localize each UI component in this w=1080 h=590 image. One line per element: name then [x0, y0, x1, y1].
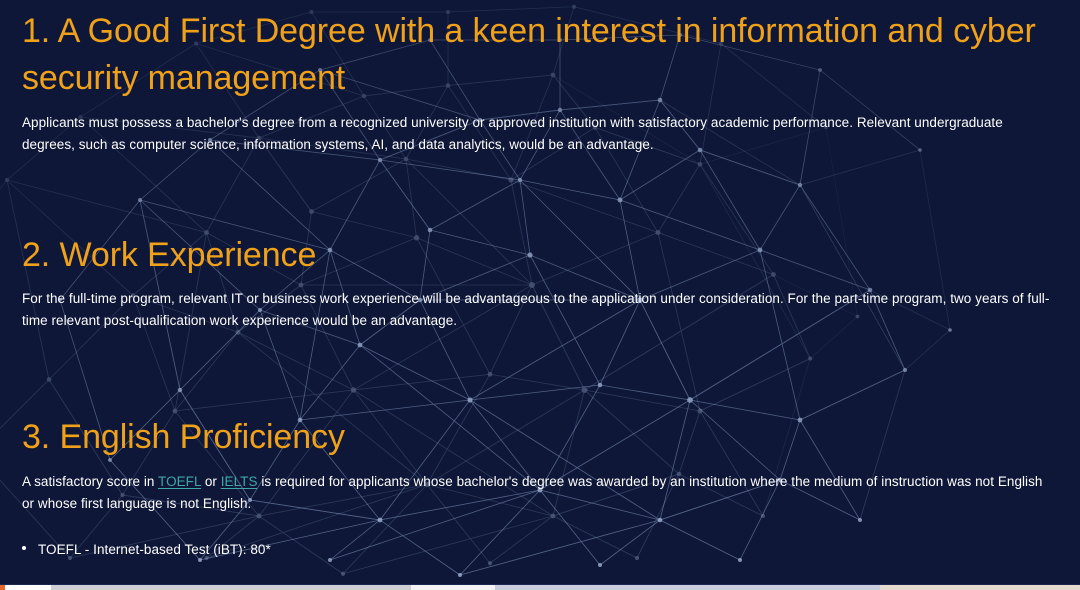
- section-body-work-experience: For the full-time program, relevant IT o…: [22, 288, 1052, 332]
- chrome-toolbar-strip[interactable]: [495, 585, 880, 590]
- chrome-active-tab[interactable]: [5, 585, 51, 590]
- window-bottom-chrome: [0, 585, 1080, 590]
- section-heading-work-experience: 2. Work Experience: [22, 232, 1056, 279]
- section-english-proficiency: 3. English Proficiency A satisfactory sc…: [22, 414, 1056, 590]
- section-heading-english-proficiency: 3. English Proficiency: [22, 414, 1056, 461]
- english-body-text-lead: A satisfactory score in: [22, 474, 158, 489]
- list-item: TOEFL - Internet-based Test (iBT): 80*: [22, 539, 1056, 561]
- requirements-article: 1. A Good First Degree with a keen inter…: [0, 0, 1080, 585]
- section-heading-first-degree: 1. A Good First Degree with a keen inter…: [22, 8, 1056, 102]
- section-work-experience: 2. Work Experience For the full-time pro…: [22, 232, 1056, 333]
- ielts-link[interactable]: IELTS: [221, 474, 258, 489]
- chrome-tab-highlight[interactable]: [411, 585, 495, 590]
- chrome-tab-strip[interactable]: [51, 585, 411, 590]
- toefl-score-list: TOEFL - Internet-based Test (iBT): 80* T…: [22, 539, 1056, 590]
- chrome-right-strip[interactable]: [880, 585, 1080, 590]
- english-body-text-or: or: [201, 474, 221, 489]
- section-body-first-degree: Applicants must possess a bachelor's deg…: [22, 112, 1052, 156]
- section-body-english-proficiency: A satisfactory score in TOEFL or IELTS i…: [22, 471, 1052, 515]
- toefl-link[interactable]: TOEFL: [158, 474, 201, 489]
- section-first-degree: 1. A Good First Degree with a keen inter…: [22, 8, 1056, 156]
